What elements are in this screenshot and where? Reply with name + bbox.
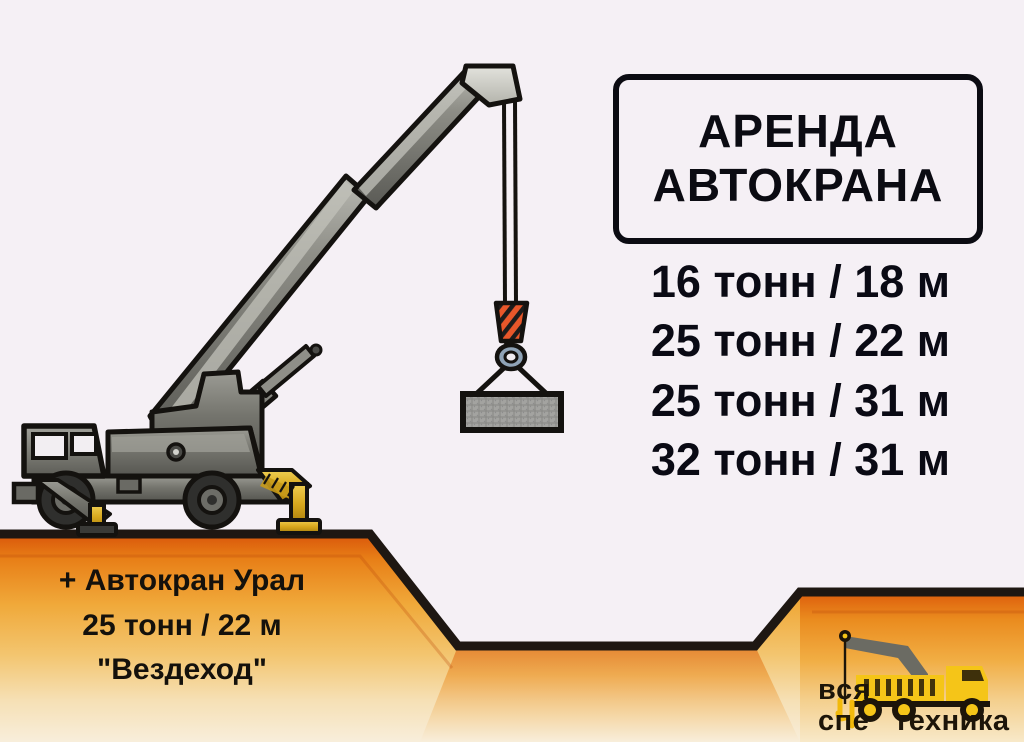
spec-list: 16 тонн / 18 м 25 тонн / 22 м 25 тонн / … [608, 252, 993, 490]
logo-word-vsya: вся [818, 674, 871, 707]
logo-word-spe: спе [818, 705, 869, 738]
caption-line-3: "Вездеход" [97, 649, 267, 692]
pit-floor-shading [420, 646, 800, 742]
spec-row: 32 тонн / 31 м [651, 430, 950, 489]
extra-crane-caption: + Автокран Урал 25 тонн / 22 м "Вездеход… [8, 560, 356, 692]
poster-root: АРЕНДА АВТОКРАНА 16 тонн / 18 м 25 тонн … [0, 0, 1024, 742]
caption-line-1: + Автокран Урал [59, 560, 305, 603]
logo-word-tehnika: техника [894, 705, 1010, 738]
title-line-1: АРЕНДА [698, 107, 898, 157]
spec-row: 25 тонн / 31 м [651, 371, 950, 430]
logo-sheave-center [843, 634, 848, 639]
caption-line-2: 25 тонн / 22 м [82, 605, 281, 648]
spec-row: 25 тонн / 22 м [651, 311, 950, 370]
spec-row: 16 тонн / 18 м [651, 252, 950, 311]
company-logo[interactable]: вся спе техника [812, 618, 1020, 736]
title-line-2: АВТОКРАНА [653, 161, 944, 211]
title-plate: АРЕНДА АВТОКРАНА [613, 74, 983, 244]
